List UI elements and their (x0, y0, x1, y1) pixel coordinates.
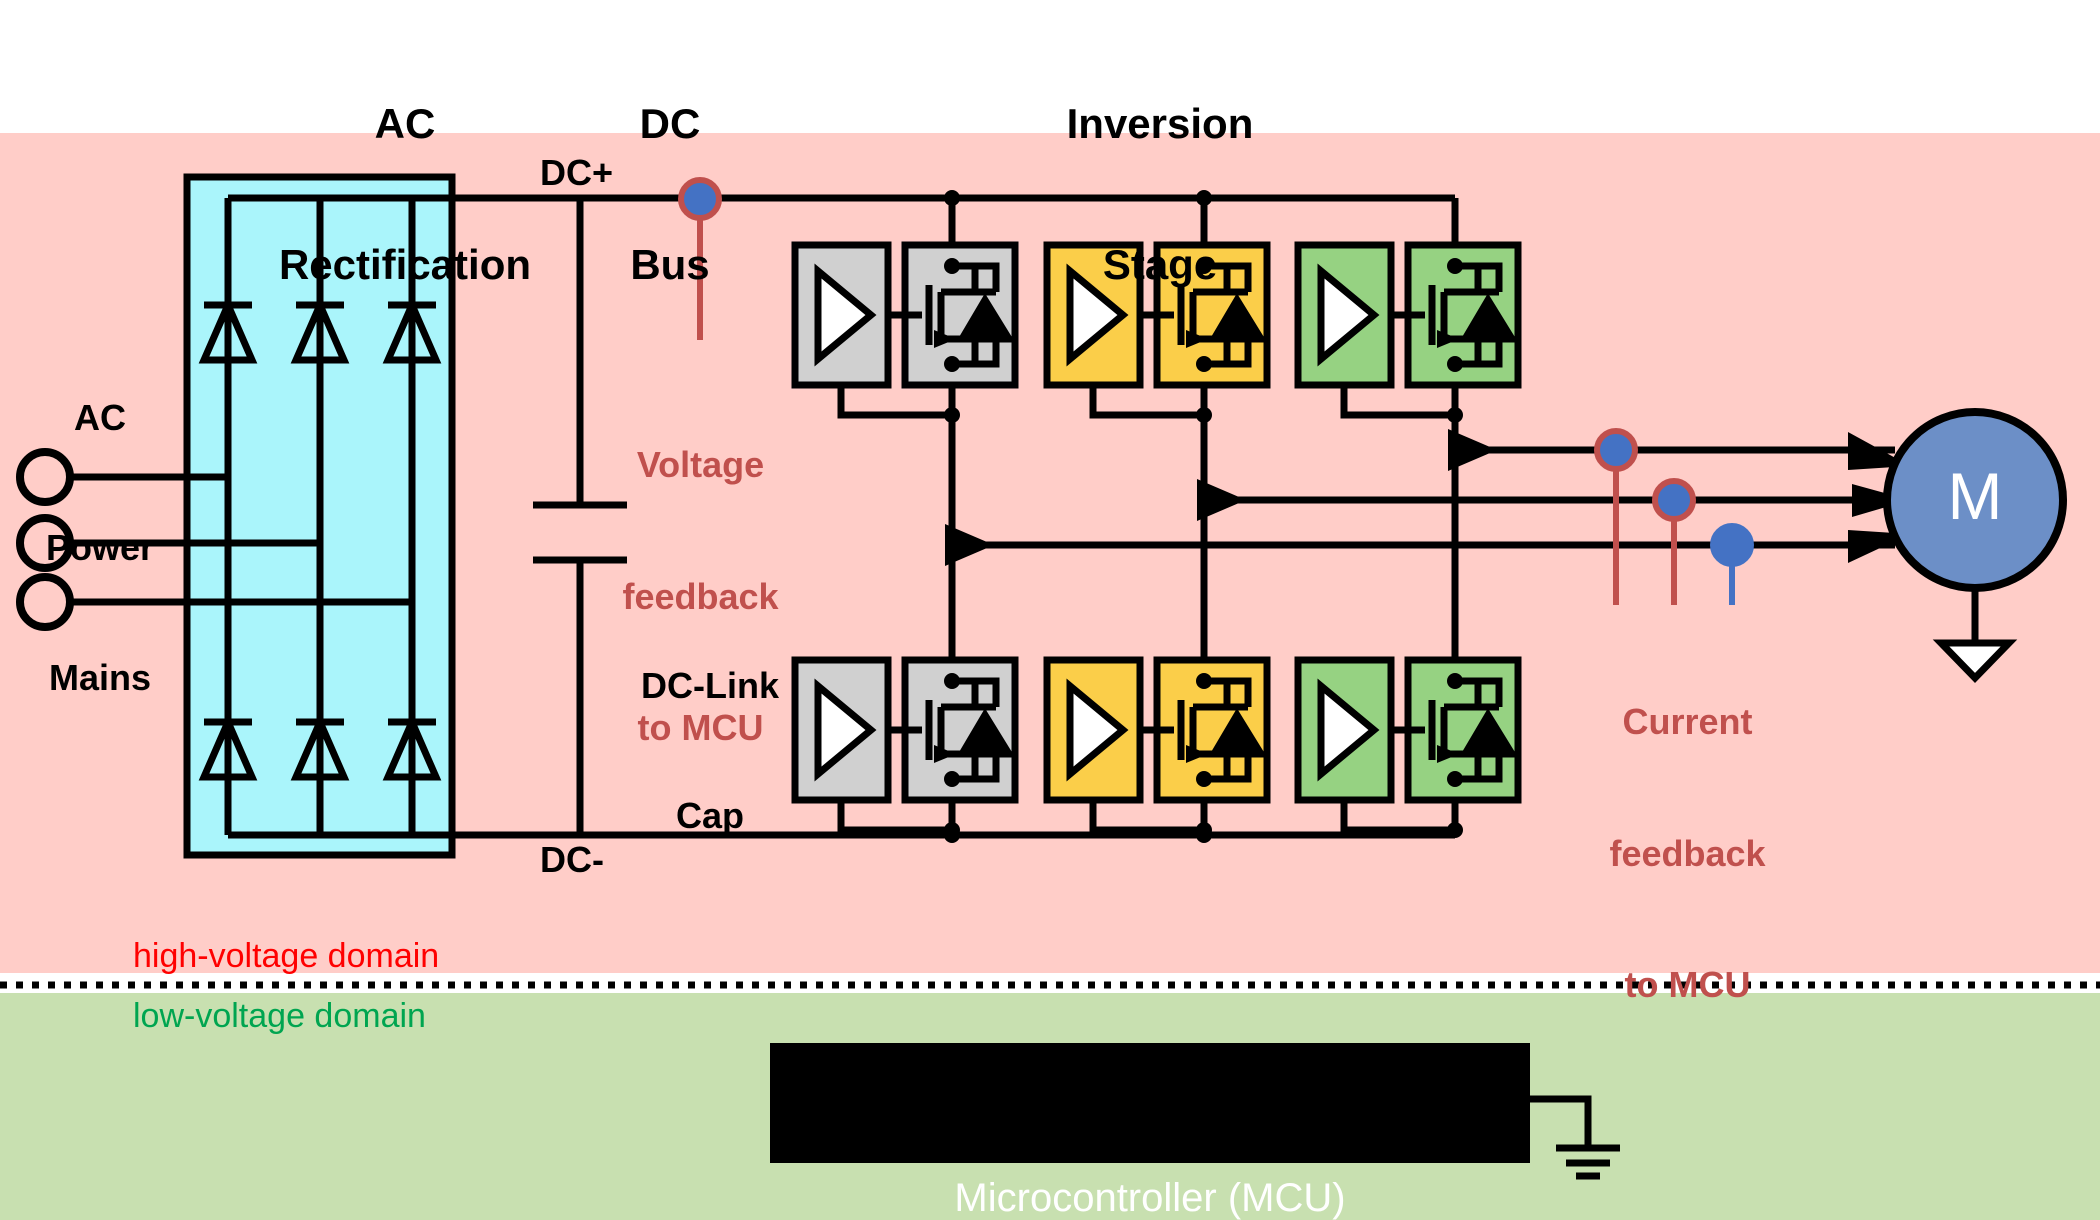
header-inversion-stage-line1: Inversion (960, 100, 1360, 147)
current-feedback-line1: Current (1555, 700, 1820, 744)
ac-mains-label-line2: Power (20, 526, 180, 569)
ac-power-mains-label: AC Power Mains (20, 310, 180, 785)
high-voltage-domain-label: high-voltage domain (133, 937, 439, 975)
voltage-feedback-label: Voltage feedback to MCU (568, 355, 833, 838)
voltage-feedback-line1: Voltage (568, 443, 833, 487)
ac-mains-label-line3: Mains (20, 656, 180, 699)
dc-plus-label: DC+ (540, 153, 613, 193)
mcu-label-line1: Microcontroller (MCU) (770, 1172, 1530, 1220)
header-inversion-stage-line2: Stage (960, 241, 1360, 288)
current-feedback-line2: feedback (1555, 832, 1820, 876)
current-feedback-sense-dot-3 (1713, 526, 1751, 564)
header-dc-bus-line1: DC (555, 100, 785, 147)
header-inversion-stage: Inversion Stage (960, 6, 1360, 382)
current-feedback-line3: to MCU (1555, 963, 1820, 1007)
voltage-feedback-line3: to MCU (568, 706, 833, 750)
header-dc-bus: DC Bus (555, 6, 785, 382)
current-feedback-label: Current feedback to MCU (1555, 612, 1820, 1095)
header-dc-bus-line2: Bus (555, 241, 785, 288)
mcu-label: Microcontroller (MCU) or DSP (770, 1068, 1530, 1220)
voltage-feedback-line2: feedback (568, 575, 833, 619)
diagram-canvas: AC Rectification DC Bus Inversion Stage … (0, 0, 2100, 1220)
dc-minus-label: DC- (540, 840, 604, 880)
low-voltage-domain-label: low-voltage domain (133, 997, 426, 1035)
current-feedback-sense-dot-1 (1597, 431, 1635, 469)
motor-label: M (1948, 460, 2003, 534)
ac-mains-label-line1: AC (20, 396, 180, 439)
current-feedback-sense-dot-2 (1655, 481, 1693, 519)
